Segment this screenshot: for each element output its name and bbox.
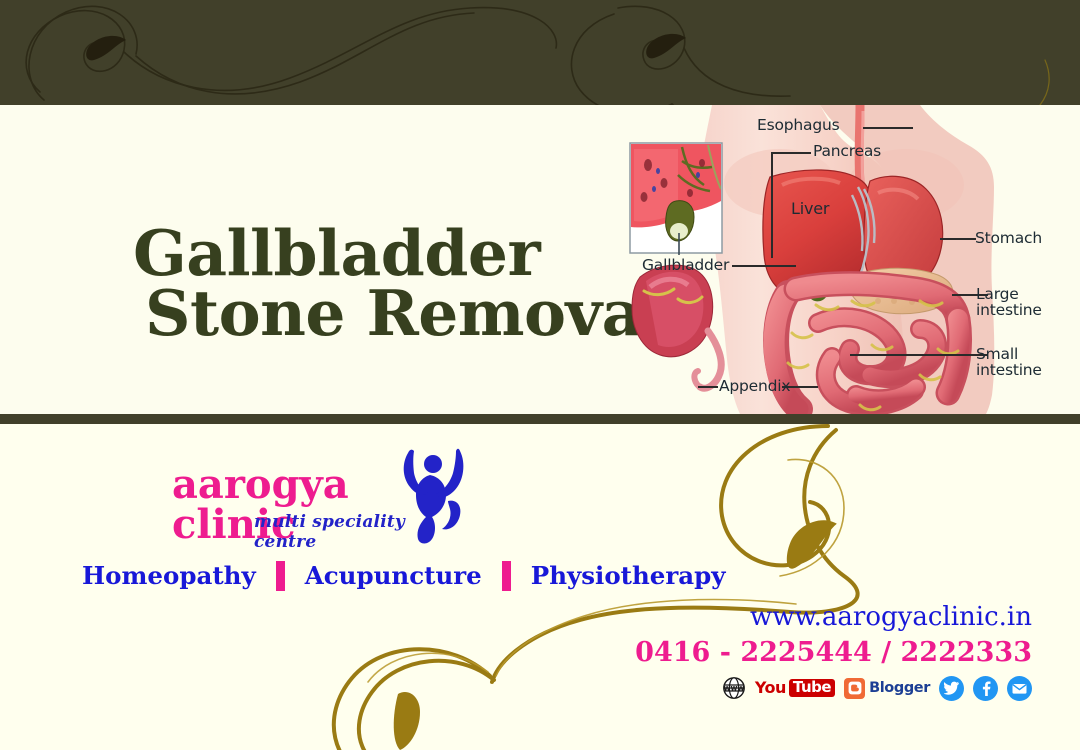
page-title: GallbladderStone Removal (133, 224, 665, 344)
service-homeopathy[interactable]: Homeopathy (82, 564, 256, 589)
leaf-shape-2 (646, 34, 686, 59)
website-globe-icon[interactable]: www (722, 675, 746, 701)
email-icon[interactable] (1007, 676, 1032, 701)
facebook-icon[interactable] (973, 676, 998, 701)
svg-text:www: www (723, 684, 744, 693)
leaf-shape-4 (394, 692, 420, 750)
blogger-label: Blogger (869, 681, 930, 696)
mid-divider-band (0, 414, 1080, 424)
appendix-leader-left (698, 386, 718, 388)
top-swirl-ornament (0, 0, 1080, 105)
services-list: Homeopathy Acupuncture Physiotherapy (82, 558, 726, 594)
leaf-shape (86, 36, 126, 61)
anat-label-gallbladder: Gallbladder (642, 257, 729, 273)
stomach-leader (940, 238, 976, 240)
pancreas-leader-h (771, 152, 811, 154)
anat-label-stomach: Stomach (975, 230, 1042, 246)
gallbladder-inset-panel (630, 143, 722, 255)
service-separator-2 (502, 561, 511, 591)
youtube-you-text: You (755, 680, 786, 696)
hero-band: GallbladderStone Removal (0, 105, 1080, 414)
clinic-logo[interactable]: aarogya clinic multi speciality centre (172, 455, 462, 545)
service-acupuncture[interactable]: Acupuncture (305, 564, 482, 589)
headline-line-2: Stone Removal (145, 284, 665, 344)
small-intestine-leader (850, 354, 988, 356)
social-links: www You Tube Blogger (722, 673, 1032, 703)
poster-root: GallbladderStone Removal (0, 0, 1080, 750)
anat-label-esophagus: Esophagus (757, 117, 839, 133)
pancreas-leader-v (771, 152, 773, 258)
blogger-icon[interactable]: Blogger (844, 675, 930, 701)
anatomy-illustration: Esophagus Pancreas Liver Stomach Gallbla… (620, 105, 1080, 414)
anat-label-pancreas: Pancreas (813, 143, 881, 159)
esophagus-leader (863, 127, 913, 129)
anat-label-appendix: Appendix (719, 378, 790, 394)
service-separator-1 (276, 561, 285, 591)
anat-label-liver: Liver (791, 201, 829, 218)
youtube-icon[interactable]: You Tube (755, 675, 835, 701)
phone-number[interactable]: 0416 - 2225444 / 2222333 (635, 637, 1032, 668)
blogger-mark (844, 678, 865, 699)
anat-label-large-intestine: Large intestine (976, 286, 1042, 319)
dancing-figure-icon (400, 447, 470, 550)
youtube-tube-text: Tube (789, 679, 835, 697)
gallbladder-detail-shape (632, 265, 721, 388)
website-url[interactable]: www.aarogyaclinic.in (750, 602, 1032, 632)
gallbladder-leader (732, 265, 796, 267)
twitter-icon[interactable] (939, 676, 964, 701)
service-physiotherapy[interactable]: Physiotherapy (531, 564, 726, 589)
anat-label-small-intestine: Small intestine (976, 346, 1042, 379)
top-decorative-band (0, 0, 1080, 105)
